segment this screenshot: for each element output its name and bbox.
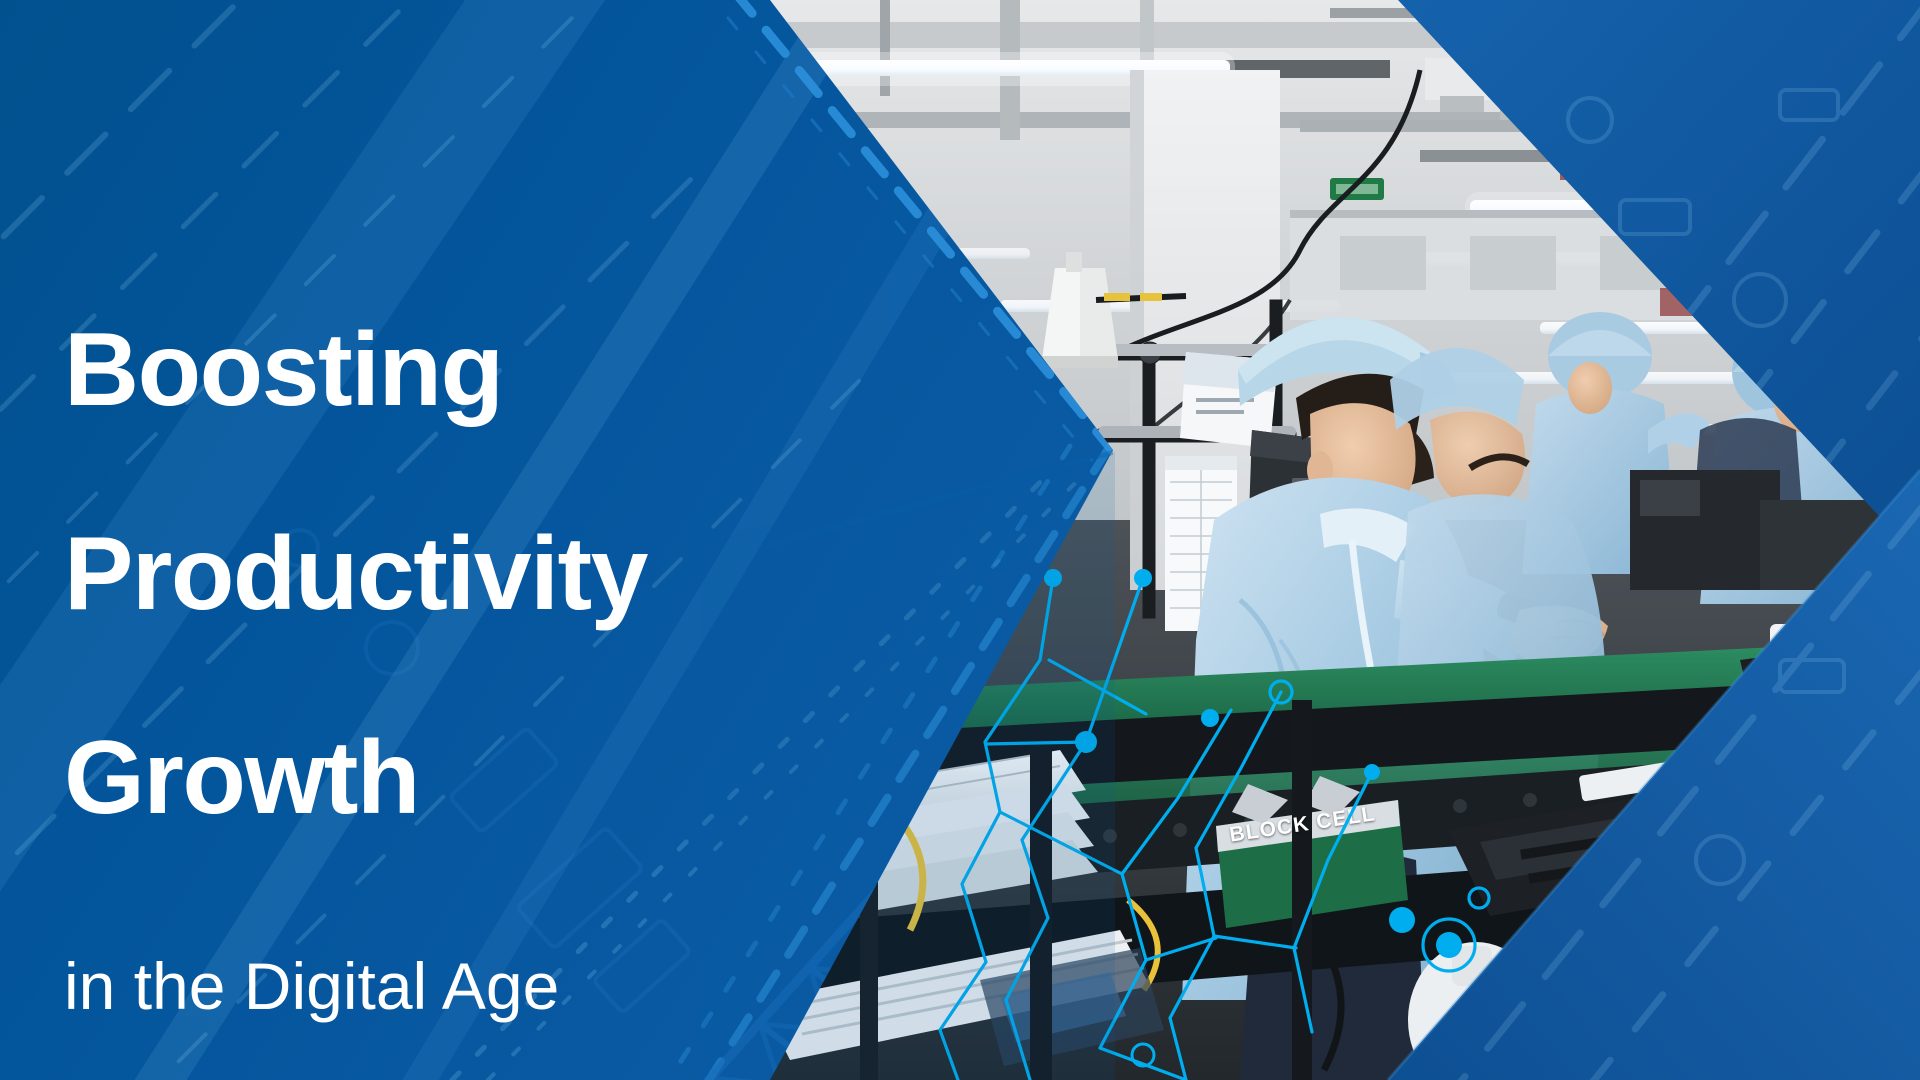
- headline-line-3: Growth: [64, 728, 824, 830]
- subheadline: in the Digital Age: [64, 953, 824, 1019]
- banner-root: BLOCK CELL: [0, 0, 1920, 1080]
- headline-line-2: Productivity: [64, 524, 824, 626]
- page-title: Boosting Productivity Growth: [64, 218, 824, 931]
- headline-block: Boosting Productivity Growth in the Digi…: [64, 218, 824, 1019]
- block-cell-sign-label: BLOCK CELL: [1228, 797, 1410, 847]
- headline-line-1: Boosting: [64, 320, 824, 422]
